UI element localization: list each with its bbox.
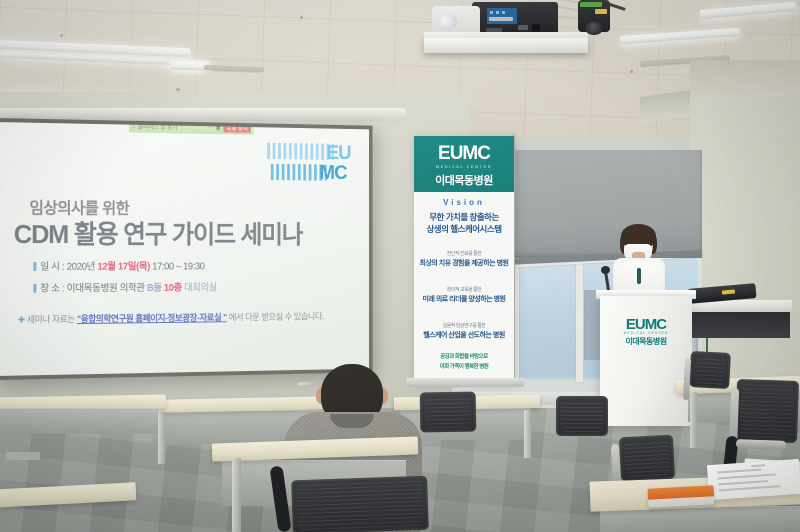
podium: EUMC MEDICAL CENTER 이대목동병원 — [600, 296, 692, 426]
banner-footer-line2: 이화 가족이 행복한 병원 — [414, 364, 514, 372]
banner-base — [406, 378, 524, 387]
presenter-toolbar-label: 슬라이드 쇼 보기 — [138, 122, 178, 131]
window-pane — [518, 260, 578, 380]
clover-icon: ✚ — [18, 315, 25, 325]
date-time: 17:00 – 19:30 — [152, 262, 204, 273]
microphone-head — [601, 266, 610, 274]
banner-logo-subtext: MEDICAL CENTER — [414, 164, 514, 169]
date-day: 17일(목) — [118, 262, 150, 273]
projector-lens — [437, 14, 457, 30]
camera-lens — [585, 22, 603, 35]
banner-vision-line1: 무한 가치를 창출하는 — [414, 212, 514, 223]
presenter-toolbar-dots: ⋯ ▣ — [208, 124, 220, 131]
banner-logo: EUMC — [414, 143, 514, 165]
slide-place-row: 장 소 : 이대목동병원 의학관 B동 10층 대회의실 — [33, 279, 216, 295]
orange-notebook[interactable] — [648, 485, 715, 507]
slide-footnote: ✚ 세미나 자료는 "융합의학연구원 홈페이지-정보광장-자료실 " 에서 다운… — [18, 310, 324, 326]
desk-modesty-panel — [0, 408, 158, 434]
banner-pillar-small: 실용적 임상연구를 통한 — [414, 322, 514, 329]
banner-pillar-bold: 미래 의료 리더를 양성하는 병원 — [414, 294, 514, 304]
desk-leg — [158, 412, 165, 464]
chair-backrest[interactable] — [420, 392, 477, 433]
place-label: 장 소 : — [40, 284, 64, 295]
desk-leg — [524, 410, 531, 458]
ceiling-speck — [300, 16, 303, 19]
place-hospital: 이대목동병원 의학관 — [67, 283, 145, 294]
banner-pillar-small: 전인적 진료를 통한 — [414, 250, 514, 257]
projector-port — [518, 25, 528, 30]
recording-badge[interactable]: 녹화 중지 — [224, 124, 251, 133]
note-prefix: 세미나 자료는 — [27, 314, 75, 324]
ceiling-speck — [630, 70, 633, 73]
banner-vision-heading: Vision — [414, 198, 514, 207]
note-suffix: 에서 다운 받으실 수 있습니다. — [229, 312, 324, 323]
handout-page[interactable] — [707, 459, 800, 500]
chair-backrest[interactable] — [689, 351, 731, 389]
bullet-tick — [33, 284, 36, 293]
bullet-tick — [33, 262, 36, 271]
projector-circuit-board — [487, 8, 517, 24]
vision-banner: EUMC MEDICAL CENTER 이대목동병원 Vision 무한 가치를… — [414, 136, 514, 381]
speaker-lanyard — [637, 268, 641, 284]
presenter-toolbar-icon: ⌂ — [132, 123, 135, 129]
ceiling-speck — [176, 88, 180, 91]
slide-date-row: 일 시 : 2020년 12월 17일(목) 17:00 – 19:30 — [33, 258, 204, 273]
notebook-cover — [648, 485, 714, 499]
slide-logo-bars — [271, 164, 327, 181]
slide-title: CDM 활용 연구 가이드 세미나 — [14, 214, 303, 251]
av-equipment-bay — [692, 310, 790, 338]
projection-screen-frame: ⌂ 슬라이드 쇼 보기 ⋯ ▣ 녹화 중지 EU MC 임상의사를 위한 CDM… — [0, 118, 373, 380]
camera-indicator — [595, 9, 607, 14]
chair-backrest[interactable] — [291, 476, 429, 532]
projector-port — [532, 24, 540, 31]
banner-pillar-bold: 헬스케어 산업을 선도하는 병원 — [414, 330, 514, 340]
presenter-toolbar[interactable]: ⌂ 슬라이드 쇼 보기 ⋯ ▣ 녹화 중지 — [129, 122, 254, 135]
chair-backrest[interactable] — [619, 435, 675, 482]
slide-logo-mc: MC — [319, 162, 346, 185]
place-floor: 10층 — [164, 283, 182, 294]
chair-seat-frame — [736, 439, 786, 450]
date-label: 일 시 : — [40, 262, 64, 273]
slide-logo-bars — [267, 143, 333, 160]
banner-vision-line2: 상생의 헬스케어시스템 — [414, 224, 514, 235]
camera-indicator — [580, 2, 602, 7]
slide-logo: EU MC — [267, 143, 362, 186]
banner-pillar-bold: 최상의 치유 경험을 제공하는 병원 — [414, 258, 514, 268]
desk-leg — [232, 458, 241, 532]
chair-backrest[interactable] — [735, 379, 799, 443]
desk-leg — [690, 392, 697, 448]
date-year: 2020년 — [67, 262, 95, 273]
banner-footer-line1: 공감과 화합을 바탕으로 — [414, 354, 514, 362]
ceiling-speck — [60, 34, 63, 37]
window-mullion — [576, 246, 583, 382]
ceiling-light-fixture — [170, 61, 206, 70]
date-month: 12월 — [97, 262, 115, 273]
chair-backrest[interactable] — [556, 396, 608, 436]
floor-vent — [6, 452, 40, 460]
place-room: 대회의실 — [184, 283, 217, 294]
place-building: B동 — [147, 283, 162, 294]
projector-mount-plate — [424, 38, 588, 53]
projection-screen: ⌂ 슬라이드 쇼 보기 ⋯ ▣ 녹화 중지 EU MC 임상의사를 위한 CDM… — [0, 122, 369, 376]
banner-hospital-name: 이대목동병원 — [414, 172, 514, 188]
lecture-hall-photo: ⌂ 슬라이드 쇼 보기 ⋯ ▣ 녹화 중지 EU MC 임상의사를 위한 CDM… — [0, 0, 800, 532]
note-link[interactable]: "융합의학연구원 홈페이지-정보광장-자료실 " — [77, 313, 227, 324]
podium-hospital-name: 이대목동병원 — [600, 336, 692, 347]
banner-header: EUMC MEDICAL CENTER 이대목동병원 — [414, 136, 514, 192]
banner-pillar-small: 창의적 교육을 통한 — [414, 286, 514, 293]
podium-logo-subtext: MEDICAL CENTER — [600, 331, 692, 335]
